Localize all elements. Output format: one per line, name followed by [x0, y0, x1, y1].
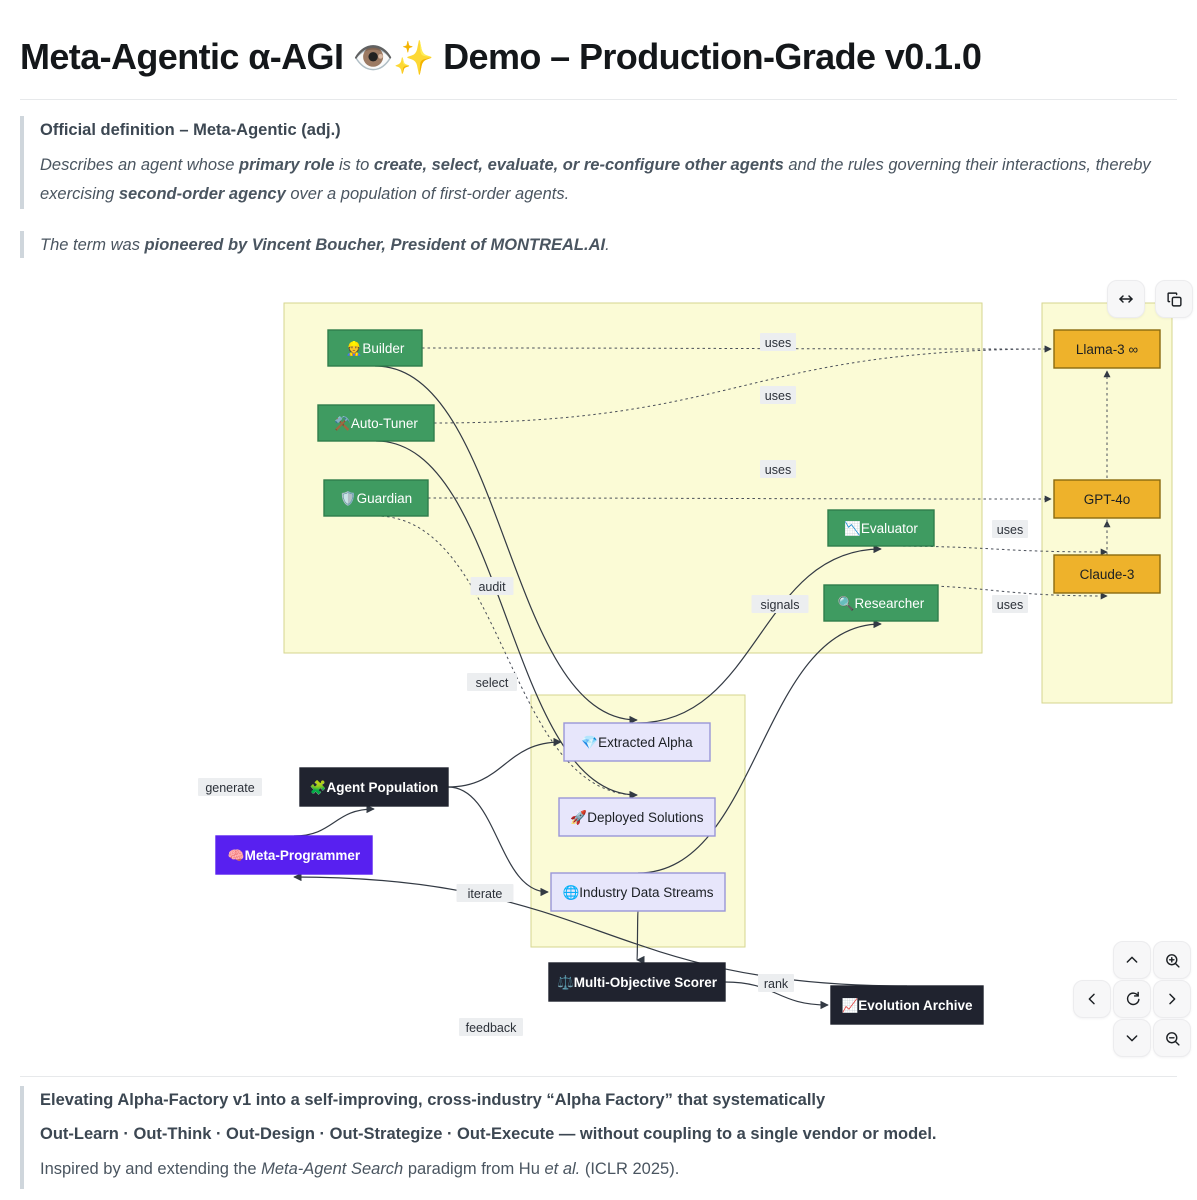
footer-l3c: paradigm from Hu	[403, 1160, 544, 1178]
page-title-pre: Meta-Agentic α-AGI	[20, 36, 353, 77]
node-evo-archive[interactable]: 📈Evolution Archive	[831, 986, 983, 1024]
node-label: Llama-3 ∞	[1076, 342, 1139, 357]
edge-label-uses-1: uses	[760, 333, 796, 351]
node-scorer[interactable]: ⚖️Multi-Objective Scorer	[549, 963, 725, 1001]
edge-label-text: rank	[764, 977, 789, 991]
edge-label-generate: generate	[198, 778, 262, 796]
left-right-arrow-icon	[1117, 290, 1135, 308]
node-label: Claude-3	[1080, 567, 1135, 582]
definition-heading: Official definition – Meta-Agentic (adj.…	[40, 116, 1177, 145]
node-label: 📉Evaluator	[844, 520, 918, 536]
edge-label-text: uses	[765, 463, 791, 477]
def-t2: is to	[334, 156, 373, 174]
copy-icon	[1166, 291, 1183, 308]
edge-label-text: uses	[765, 389, 791, 403]
footer-l3d: et al.	[544, 1160, 580, 1178]
node-claude-3[interactable]: Claude-3	[1054, 555, 1160, 593]
credit-t2: .	[605, 236, 610, 254]
node-auto-tuner[interactable]: ⚒️Auto-Tuner	[318, 405, 434, 441]
footer-l1: Elevating Alpha-Factory v1 into a self-i…	[40, 1091, 825, 1109]
node-label: 🛡️Guardian	[340, 490, 412, 506]
node-builder[interactable]: 👷Builder	[328, 330, 422, 366]
pan-up-button[interactable]	[1113, 941, 1151, 979]
credit-blockquote: The term was pioneered by Vincent Bouche…	[20, 231, 1177, 260]
node-label: 📈Evolution Archive	[841, 997, 973, 1013]
node-label: 🚀Deployed Solutions	[570, 809, 703, 825]
node-guardian[interactable]: 🛡️Guardian	[324, 480, 428, 516]
credit-text: The term was pioneered by Vincent Bouche…	[40, 231, 1177, 260]
definition-body: Describes an agent whose primary role is…	[40, 151, 1177, 209]
edge-label-text: audit	[478, 580, 506, 594]
fit-width-button[interactable]	[1107, 280, 1145, 318]
footer-line-2: Out-Learn · Out-Think · Out-Design · Out…	[40, 1120, 1177, 1148]
footer-l2: Out-Learn · Out-Think · Out-Design · Out…	[40, 1125, 937, 1143]
footer-blockquote: Elevating Alpha-Factory v1 into a self-i…	[20, 1086, 1177, 1189]
chevron-down-icon	[1124, 1030, 1140, 1046]
edge-label-rank: rank	[758, 974, 794, 992]
edge-label-iterate: iterate	[457, 884, 514, 902]
edge-label-text: generate	[205, 781, 254, 795]
node-llama-3[interactable]: Llama-3 ∞	[1054, 330, 1160, 368]
edge-label-uses-3: uses	[760, 460, 796, 478]
zoom-in-button[interactable]	[1153, 941, 1191, 979]
mermaid-diagram[interactable]: 👷Builder⚒️Auto-Tuner🛡️Guardian📉Evaluator…	[0, 258, 1197, 1078]
node-evaluator[interactable]: 📉Evaluator	[828, 510, 934, 546]
def-b1: primary role	[239, 156, 334, 174]
node-label: 🧩Agent Population	[310, 779, 439, 795]
edge-label-text: signals	[761, 598, 800, 612]
edge-label-signals: signals	[752, 595, 809, 613]
edge-label-feedback: feedback	[459, 1018, 523, 1036]
zoom-out-button[interactable]	[1153, 1019, 1191, 1057]
edge-label-text: uses	[765, 336, 791, 350]
edge-label-text: feedback	[466, 1021, 517, 1035]
node-extracted-alpha[interactable]: 💎Extracted Alpha	[564, 723, 710, 761]
node-agent-pop[interactable]: 🧩Agent Population	[300, 768, 448, 806]
credit-b1: pioneered by Vincent Boucher, President …	[145, 236, 606, 254]
edge-label-text: select	[476, 676, 509, 690]
node-label: 🧠Meta-Programmer	[228, 848, 361, 863]
pan-down-button[interactable]	[1113, 1019, 1151, 1057]
edge-label-uses-2: uses	[760, 386, 796, 404]
zoom-in-icon	[1164, 952, 1181, 969]
pan-right-button[interactable]	[1153, 980, 1191, 1018]
page-header: Meta-Agentic α-AGI 👁️✨ Demo – Production…	[0, 0, 1197, 79]
definition-blockquote: Official definition – Meta-Agentic (adj.…	[20, 116, 1177, 209]
eye-sparkles-icon: 👁️✨	[353, 38, 434, 77]
zoom-out-icon	[1164, 1030, 1181, 1047]
footer-l3e: (ICLR 2025).	[580, 1160, 679, 1178]
node-deployed[interactable]: 🚀Deployed Solutions	[559, 798, 715, 836]
footer-line-3: Inspired by and extending the Meta-Agent…	[40, 1155, 1177, 1183]
diagram-clusters	[284, 303, 1172, 947]
def-t4: over a population of first-order agents.	[286, 185, 569, 203]
edge-label-text: uses	[997, 523, 1023, 537]
reset-button[interactable]	[1113, 980, 1151, 1018]
edge-label-uses-4: uses	[992, 520, 1028, 538]
node-researcher[interactable]: 🔍Researcher	[824, 585, 938, 621]
edge-meta-programmer-to-agent-pop	[294, 809, 374, 836]
node-label: 🔍Researcher	[838, 594, 925, 611]
chevron-up-icon	[1124, 952, 1140, 968]
chevron-left-icon	[1084, 991, 1100, 1007]
node-label: GPT-4o	[1084, 492, 1131, 507]
node-industry-data[interactable]: 🌐Industry Data Streams	[551, 873, 725, 911]
credit-t1: The term was	[40, 236, 145, 254]
edge-label-select: select	[467, 673, 517, 691]
def-b3: second-order agency	[119, 185, 286, 203]
footer-l3a: Inspired by and extending the	[40, 1160, 261, 1178]
def-b2: create, select, evaluate, or re-configur…	[374, 156, 784, 174]
page-title: Meta-Agentic α-AGI 👁️✨ Demo – Production…	[20, 34, 1177, 79]
reset-icon	[1124, 991, 1141, 1008]
app-page: Meta-Agentic α-AGI 👁️✨ Demo – Production…	[0, 0, 1197, 1200]
node-label: ⚒️Auto-Tuner	[334, 415, 418, 431]
footer-line-1: Elevating Alpha-Factory v1 into a self-i…	[40, 1086, 1177, 1114]
edge-label-uses-5: uses	[992, 595, 1028, 613]
copy-button[interactable]	[1155, 280, 1193, 318]
footer-divider	[20, 1076, 1177, 1077]
edge-label-text: uses	[997, 598, 1023, 612]
edge-label-audit: audit	[471, 577, 514, 595]
node-label: 🌐Industry Data Streams	[562, 884, 713, 900]
node-label: ⚖️Multi-Objective Scorer	[557, 974, 718, 990]
definition-section: Official definition – Meta-Agentic (adj.…	[0, 100, 1197, 260]
node-meta-programmer[interactable]: 🧠Meta-Programmer	[216, 836, 372, 874]
chevron-right-icon	[1164, 991, 1180, 1007]
node-label: 👷Builder	[346, 340, 405, 356]
node-gpt-4o[interactable]: GPT-4o	[1054, 480, 1160, 518]
def-t1: Describes an agent whose	[40, 156, 239, 174]
page-title-post: Demo – Production-Grade v0.1.0	[434, 36, 982, 77]
footer-l3b: Meta-Agent Search	[261, 1160, 403, 1178]
node-label: 💎Extracted Alpha	[581, 735, 693, 750]
edge-label-text: iterate	[468, 887, 503, 901]
pan-left-button[interactable]	[1073, 980, 1111, 1018]
